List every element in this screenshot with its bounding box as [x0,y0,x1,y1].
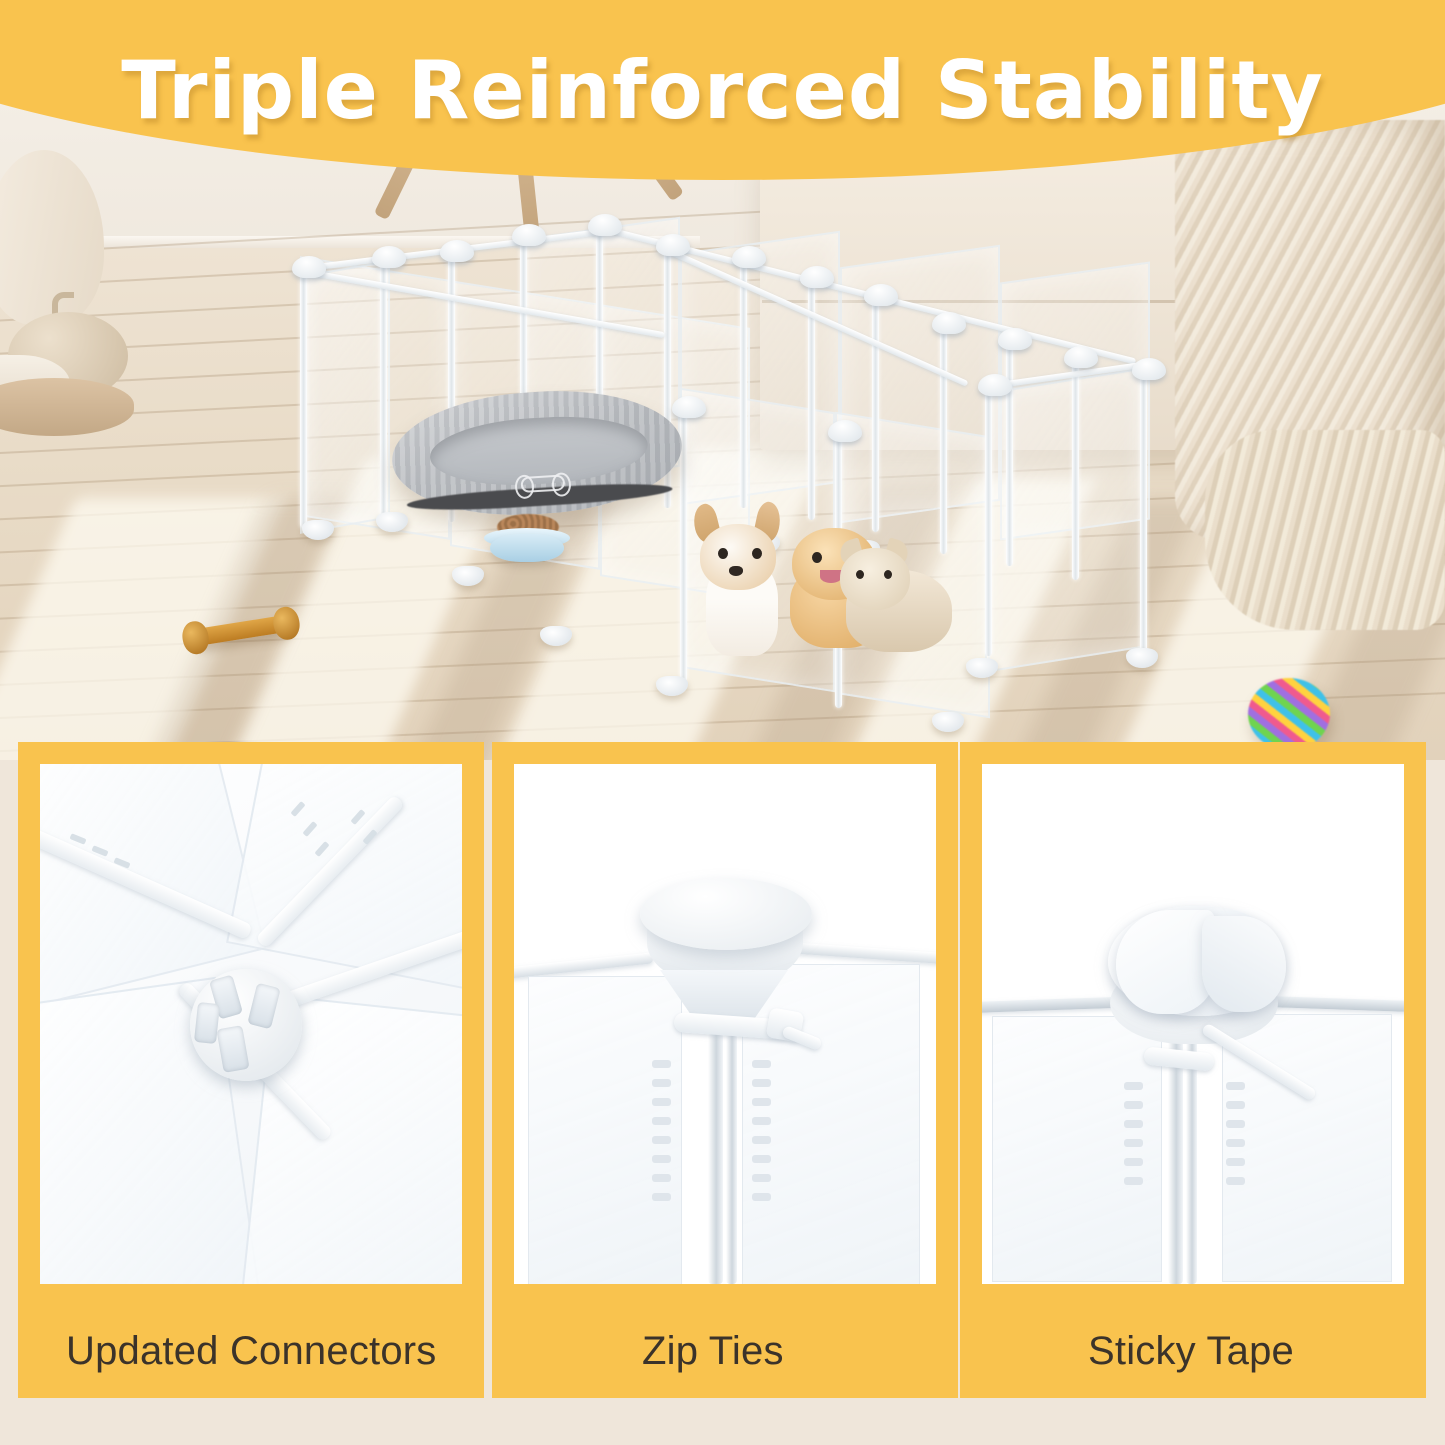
pen-connector [672,396,706,418]
feature-panel-sticky-tape[interactable]: Sticky Tape [960,742,1426,1398]
panel-vent-dots-right [752,1060,771,1201]
pen-connector [800,266,834,288]
kitten-eye-right [884,570,892,579]
pen-post-secondary [1186,1036,1197,1284]
pen-post [380,250,387,522]
connector-slot-bottom [216,1025,249,1073]
pen-connector [998,328,1032,350]
pen-post [1140,364,1147,656]
pen-foot [932,712,964,732]
four-way-connector-hub [190,969,302,1081]
pen-connector [292,256,326,278]
feature-panel-zip-ties[interactable]: Zip Ties [492,742,958,1398]
pen-post [1168,1036,1183,1284]
pen-connector [512,224,546,246]
connector-cap [640,878,812,950]
pen-post [940,318,947,554]
pomeranian-eye-left [812,552,822,563]
panel-vent-dots-right [1226,1082,1245,1185]
corgi-eye-right [752,548,762,559]
connector-slot-left [194,1002,220,1044]
zip-tie-macro-photo [514,764,936,1284]
pen-post [1072,352,1079,580]
pen-connector [588,214,622,236]
pen-panel-left-end [300,260,390,534]
sticky-tape-fold [1116,910,1216,1014]
corgi-eye-left [718,548,728,559]
pen-connector [1064,346,1098,368]
pomeranian-mouth [820,570,842,583]
pen-connector [732,246,766,268]
pen-foot [452,566,484,586]
pen-connector [440,240,474,262]
connector-macro-photo [40,764,462,1284]
pen-connector [978,374,1012,396]
corgi-head [700,524,776,590]
sticky-tape-macro-photo [982,764,1404,1284]
pen-foot [656,676,688,696]
pen-foot [1126,648,1158,668]
connector-slot-right [247,983,280,1030]
pen-post [740,252,747,508]
pen-connector [656,234,690,256]
pen-post [1006,334,1013,566]
pen-connector [864,284,898,306]
pen-post [300,260,307,528]
feature-panels: Updated Connectors [0,742,1445,1445]
pen-post [872,290,879,532]
food-bowl [490,534,564,562]
pen-connector [932,312,966,334]
panel-vent-dots-left [1124,1082,1143,1185]
pen-foot [966,658,998,678]
pen-foot [540,626,572,646]
pen-post [808,272,815,520]
bone-logo-icon [520,474,565,493]
sticky-tape-edge [1202,916,1286,1012]
kitten-eye-left [856,570,864,579]
pen-connector [372,246,406,268]
marketing-infographic: Triple Reinforced Stability [0,0,1445,1445]
pen-post [985,380,992,656]
panel-caption: Updated Connectors [66,1329,488,1374]
corgi-nose [729,566,743,576]
pen-connector [1132,358,1166,380]
pen-foot [302,520,334,540]
kitten-head [840,548,910,610]
feature-panel-updated-connectors[interactable]: Updated Connectors [18,742,484,1398]
panel-vent-dots-left [652,1060,671,1201]
panel-caption: Sticky Tape [1088,1329,1445,1374]
pen-connector [828,420,862,442]
